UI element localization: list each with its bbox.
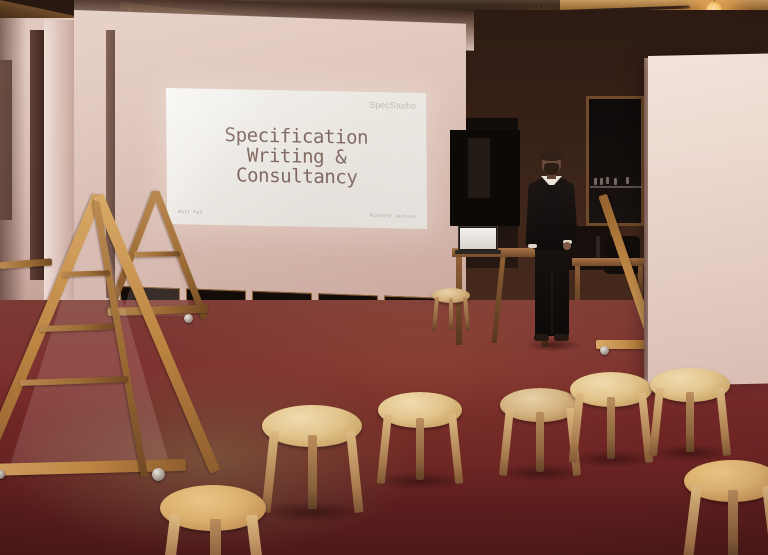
presenter-hair (541, 151, 562, 161)
presenter-hand-right (563, 242, 571, 250)
laptop-screen[interactable] (458, 226, 498, 251)
stool-by-desk[interactable] (432, 288, 470, 303)
presenter-beard (544, 163, 559, 175)
stool-mid-left[interactable] (378, 392, 462, 428)
stool-mid-center[interactable] (500, 388, 580, 422)
photo-scene: SpecStudio Specification Writing & Consu… (0, 0, 768, 555)
presenter-leg-gap (551, 272, 553, 334)
window-shelf-left (590, 186, 642, 188)
shelf-object (468, 138, 490, 198)
stool-mid-right[interactable] (570, 372, 652, 407)
stool-back-right[interactable] (650, 368, 730, 402)
laptop-base[interactable] (455, 250, 501, 254)
glassware-4 (614, 178, 617, 185)
glassware-2 (600, 178, 603, 185)
presenter-shadow (524, 338, 582, 352)
slide-presenter-right: Richard Jackson (370, 214, 416, 220)
glassware-5 (626, 177, 629, 184)
stool-front-left[interactable] (160, 485, 266, 531)
slide-logo: SpecStudio (369, 100, 416, 111)
slide-footer: Matt Fox Richard Jackson (178, 210, 416, 220)
glassware-3 (606, 177, 609, 184)
presenter-shoe-left (534, 334, 549, 341)
stool-front-right[interactable] (684, 460, 768, 502)
standing-presenter (520, 152, 582, 352)
glassware-1 (594, 178, 597, 185)
stool-front-center[interactable] (262, 405, 362, 447)
a-frame-left-large[interactable] (0, 184, 188, 496)
presenter-cuff-left (528, 244, 537, 248)
display-board (648, 53, 768, 386)
presenter-shoe-right (554, 334, 569, 341)
slide-title: Specification Writing & Consultancy (166, 124, 427, 189)
